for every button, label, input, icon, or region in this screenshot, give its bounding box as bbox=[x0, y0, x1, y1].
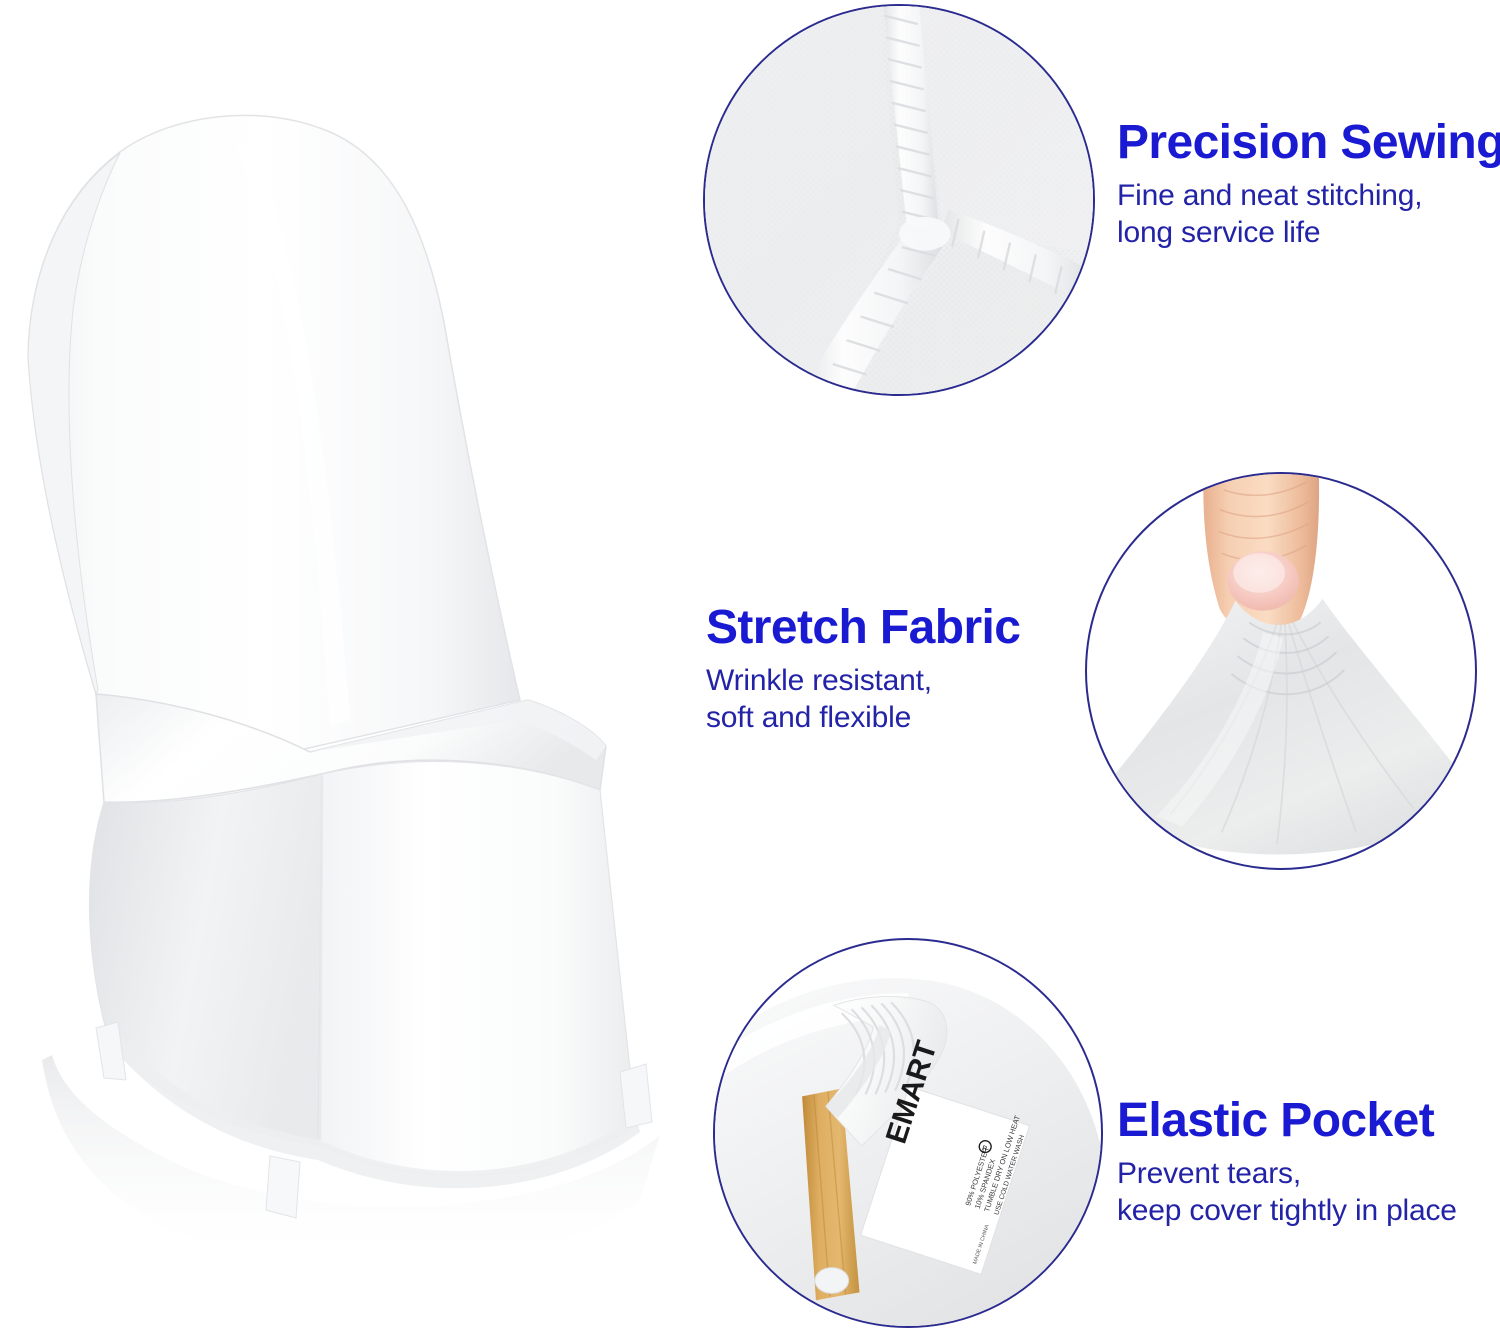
feature-description: Prevent tears, keep cover tightly in pla… bbox=[1117, 1156, 1457, 1229]
chair-cover-illustration bbox=[0, 60, 700, 1320]
stretched-fabric bbox=[1093, 599, 1475, 855]
feature-title: Elastic Pocket bbox=[1117, 1096, 1457, 1146]
finger-pulling-fabric-illustration bbox=[1087, 474, 1475, 868]
elastic-pocket-photo: EMART R 90% POLYESTER 10% SPANDEX TUMBLE… bbox=[713, 938, 1103, 1328]
feature-title: Precision Sewing bbox=[1117, 118, 1500, 168]
feature-description: Fine and neat stitching, long service li… bbox=[1117, 178, 1500, 251]
leg-pocket-back-right bbox=[620, 1064, 652, 1128]
chair-skirt bbox=[90, 761, 652, 1218]
leg-pocket-front-left bbox=[266, 1156, 300, 1218]
feature-precision-sewing: Precision Sewing Fine and neat stitching… bbox=[1117, 118, 1500, 251]
seam-stitching-closeup-illustration bbox=[705, 6, 1093, 394]
feature-elastic-pocket: Elastic Pocket Prevent tears, keep cover… bbox=[1117, 1096, 1457, 1229]
finger bbox=[1203, 474, 1319, 637]
product-photo bbox=[0, 60, 700, 1320]
elastic-pocket-illustration: EMART R 90% POLYESTER 10% SPANDEX TUMBLE… bbox=[715, 940, 1101, 1326]
precision-sewing-photo bbox=[703, 4, 1095, 396]
feature-title: Stretch Fabric bbox=[706, 603, 1020, 653]
feature-description: Wrinkle resistant, soft and flexible bbox=[706, 663, 1020, 736]
stretch-fabric-photo bbox=[1085, 472, 1477, 870]
feature-stretch-fabric: Stretch Fabric Wrinkle resistant, soft a… bbox=[706, 603, 1020, 736]
chair-back bbox=[28, 115, 520, 750]
infographic-page: Precision Sewing Fine and neat stitching… bbox=[0, 0, 1500, 1334]
